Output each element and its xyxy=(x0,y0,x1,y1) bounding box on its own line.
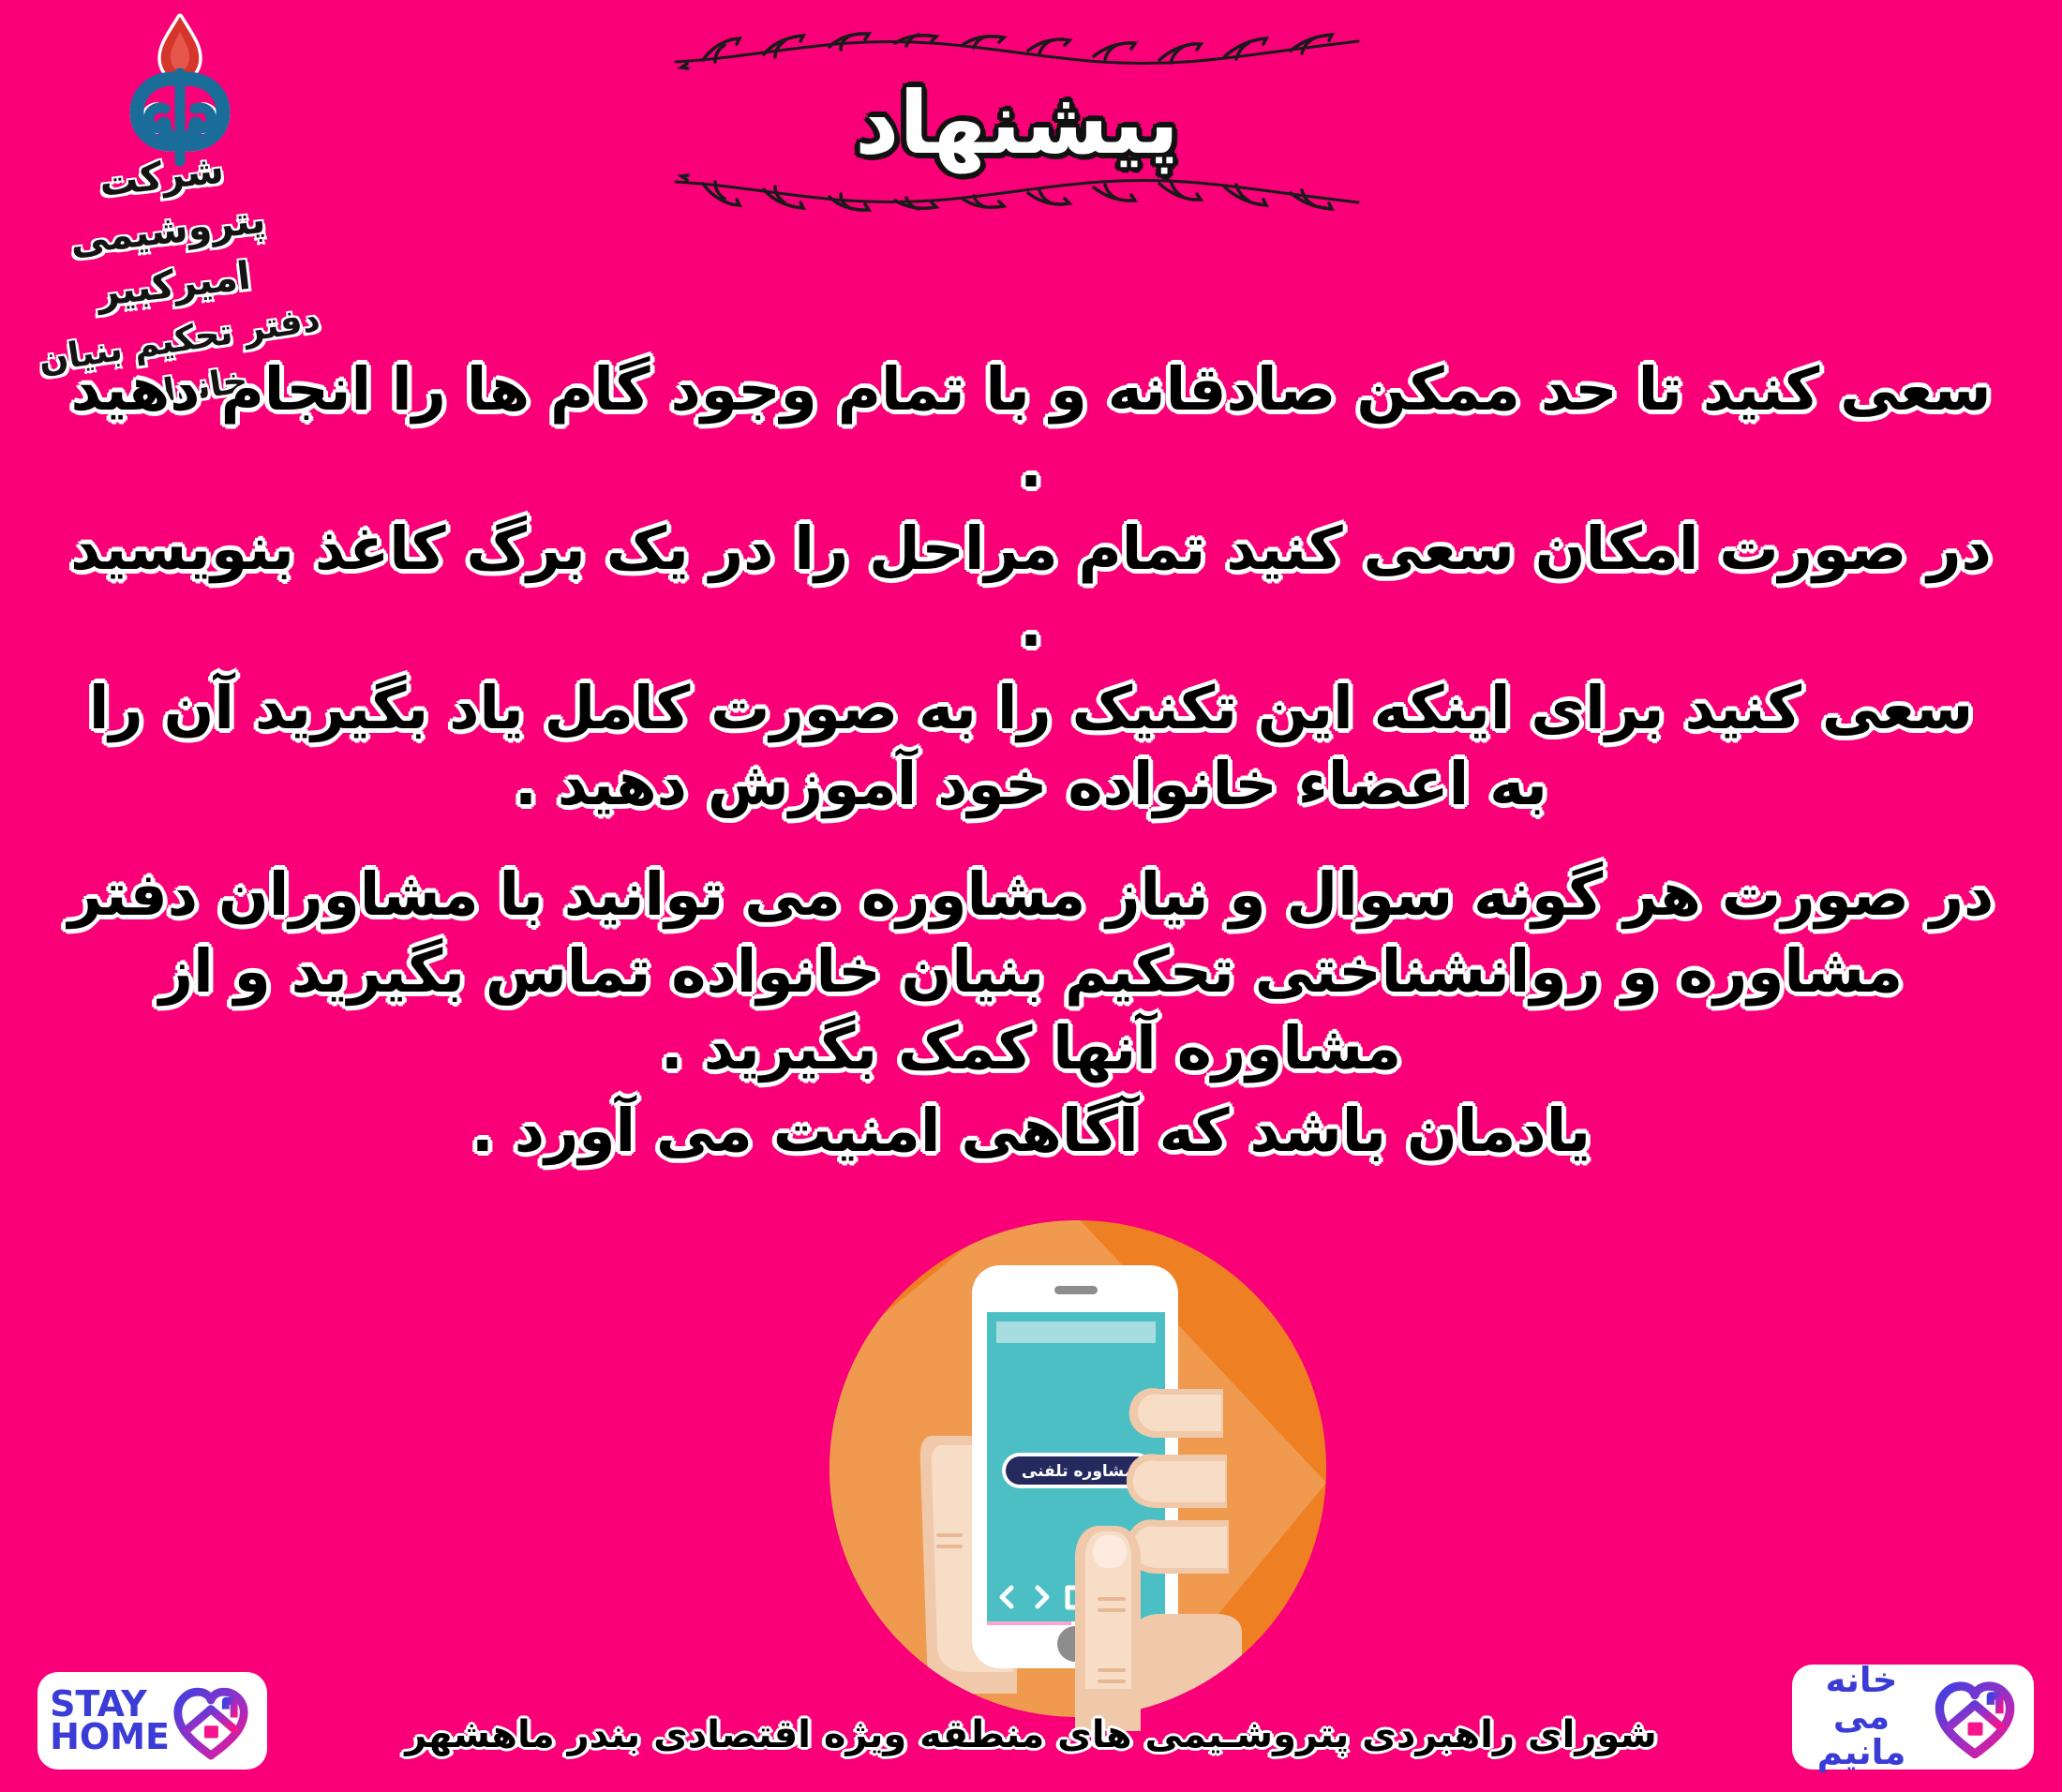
heart-house-icon xyxy=(1931,1673,2019,1761)
footer-council-text: شورای راهبردی پتروشـیمی های منطقه ویژه ا… xyxy=(356,1713,1706,1756)
consult-call-button-label: مشاوره تلفنی xyxy=(1022,1462,1134,1481)
organization-logo: شرکت پتروشیمی امیرکبیر دفتر تحکیم بنیان … xyxy=(19,7,328,317)
vine-ornament-bottom-icon xyxy=(670,172,1364,216)
hand-holding-phone-illustration: مشاوره تلفنی xyxy=(829,1220,1326,1731)
body-paragraph-2: در صورت امکان سعی کنید تمام مراحل را در … xyxy=(52,511,2010,665)
stay-home-label: STAY HOME xyxy=(50,1688,170,1754)
vine-ornament-top-icon xyxy=(670,28,1364,71)
header-block: پیشنهاد xyxy=(619,28,1415,216)
fingernail xyxy=(1093,1535,1127,1568)
logo-company-name: شرکت پتروشیمی امیرکبیر xyxy=(67,146,267,315)
body-paragraph-5: یادمان باشد که آگاهی امنیت می آورد . xyxy=(52,1093,2010,1170)
phone-speaker xyxy=(1054,1286,1098,1294)
page-title: پیشنهاد xyxy=(619,81,1415,167)
poster-root: شرکت پتروشیمی امیرکبیر دفتر تحکیم بنیان … xyxy=(0,0,2062,1792)
body-text-block: سعی کنید تا حد ممکن صادقانه و با تمام وج… xyxy=(52,351,2010,1175)
stay-home-label-persian: خانه می مانیم xyxy=(1800,1663,1923,1772)
phone-address-bar xyxy=(996,1322,1156,1343)
body-paragraph-1: سعی کنید تا حد ممکن صادقانه و با تمام وج… xyxy=(52,351,2010,505)
stay-home-badge-persian: خانه می مانیم xyxy=(1792,1665,2034,1770)
stay-home-badge-english: STAY HOME xyxy=(37,1672,267,1770)
body-paragraph-3: سعی کنید برای اینکه این تکنیک را به صورت… xyxy=(52,670,2010,824)
heart-house-icon xyxy=(170,1680,252,1762)
body-paragraph-4: در صورت هر گونه سوال و نیاز مشاوره می تو… xyxy=(52,857,2010,1087)
